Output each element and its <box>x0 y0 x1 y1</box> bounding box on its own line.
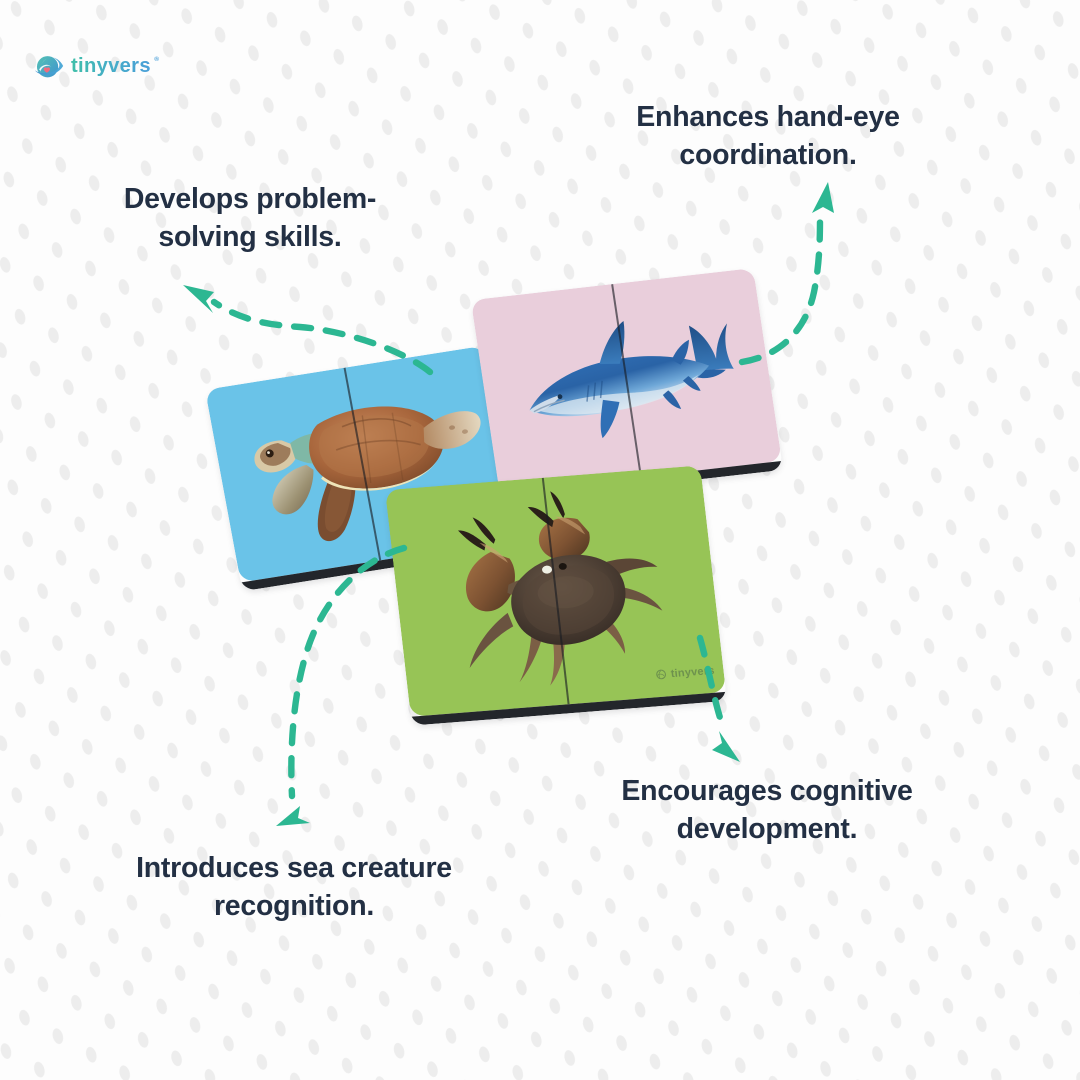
caption-line: Encourages cognitive <box>572 773 962 811</box>
tinyvers-globe-heart-icon <box>32 49 66 83</box>
caption-line: recognition. <box>80 888 508 926</box>
logo-trademark: ® <box>154 55 159 63</box>
caption-hand-eye: Enhances hand-eye coordination. <box>582 99 954 175</box>
caption-line: Develops problem- <box>68 181 432 219</box>
caption-line: Enhances hand-eye <box>582 99 954 137</box>
logo-wordmark: tinyvers ® <box>71 49 202 83</box>
caption-sea-creature: Introduces sea creature recognition. <box>80 850 508 926</box>
caption-line: development. <box>572 811 962 849</box>
caption-cognitive: Encourages cognitive development. <box>572 773 962 849</box>
promo-graphic: tinyvers ® <box>0 0 1080 1080</box>
caption-line: coordination. <box>582 137 954 175</box>
logo-text: tinyvers <box>71 55 151 77</box>
caption-line: solving skills. <box>68 219 432 257</box>
watermark-globe-icon <box>654 667 668 681</box>
caption-problem-solving: Develops problem- solving skills. <box>68 181 432 257</box>
puzzle-card-shark[interactable] <box>471 268 783 502</box>
caption-line: Introduces sea creature <box>80 850 508 888</box>
puzzle-card-crab[interactable]: tinyvers <box>385 465 727 725</box>
brand-logo: tinyvers ® <box>32 44 202 88</box>
